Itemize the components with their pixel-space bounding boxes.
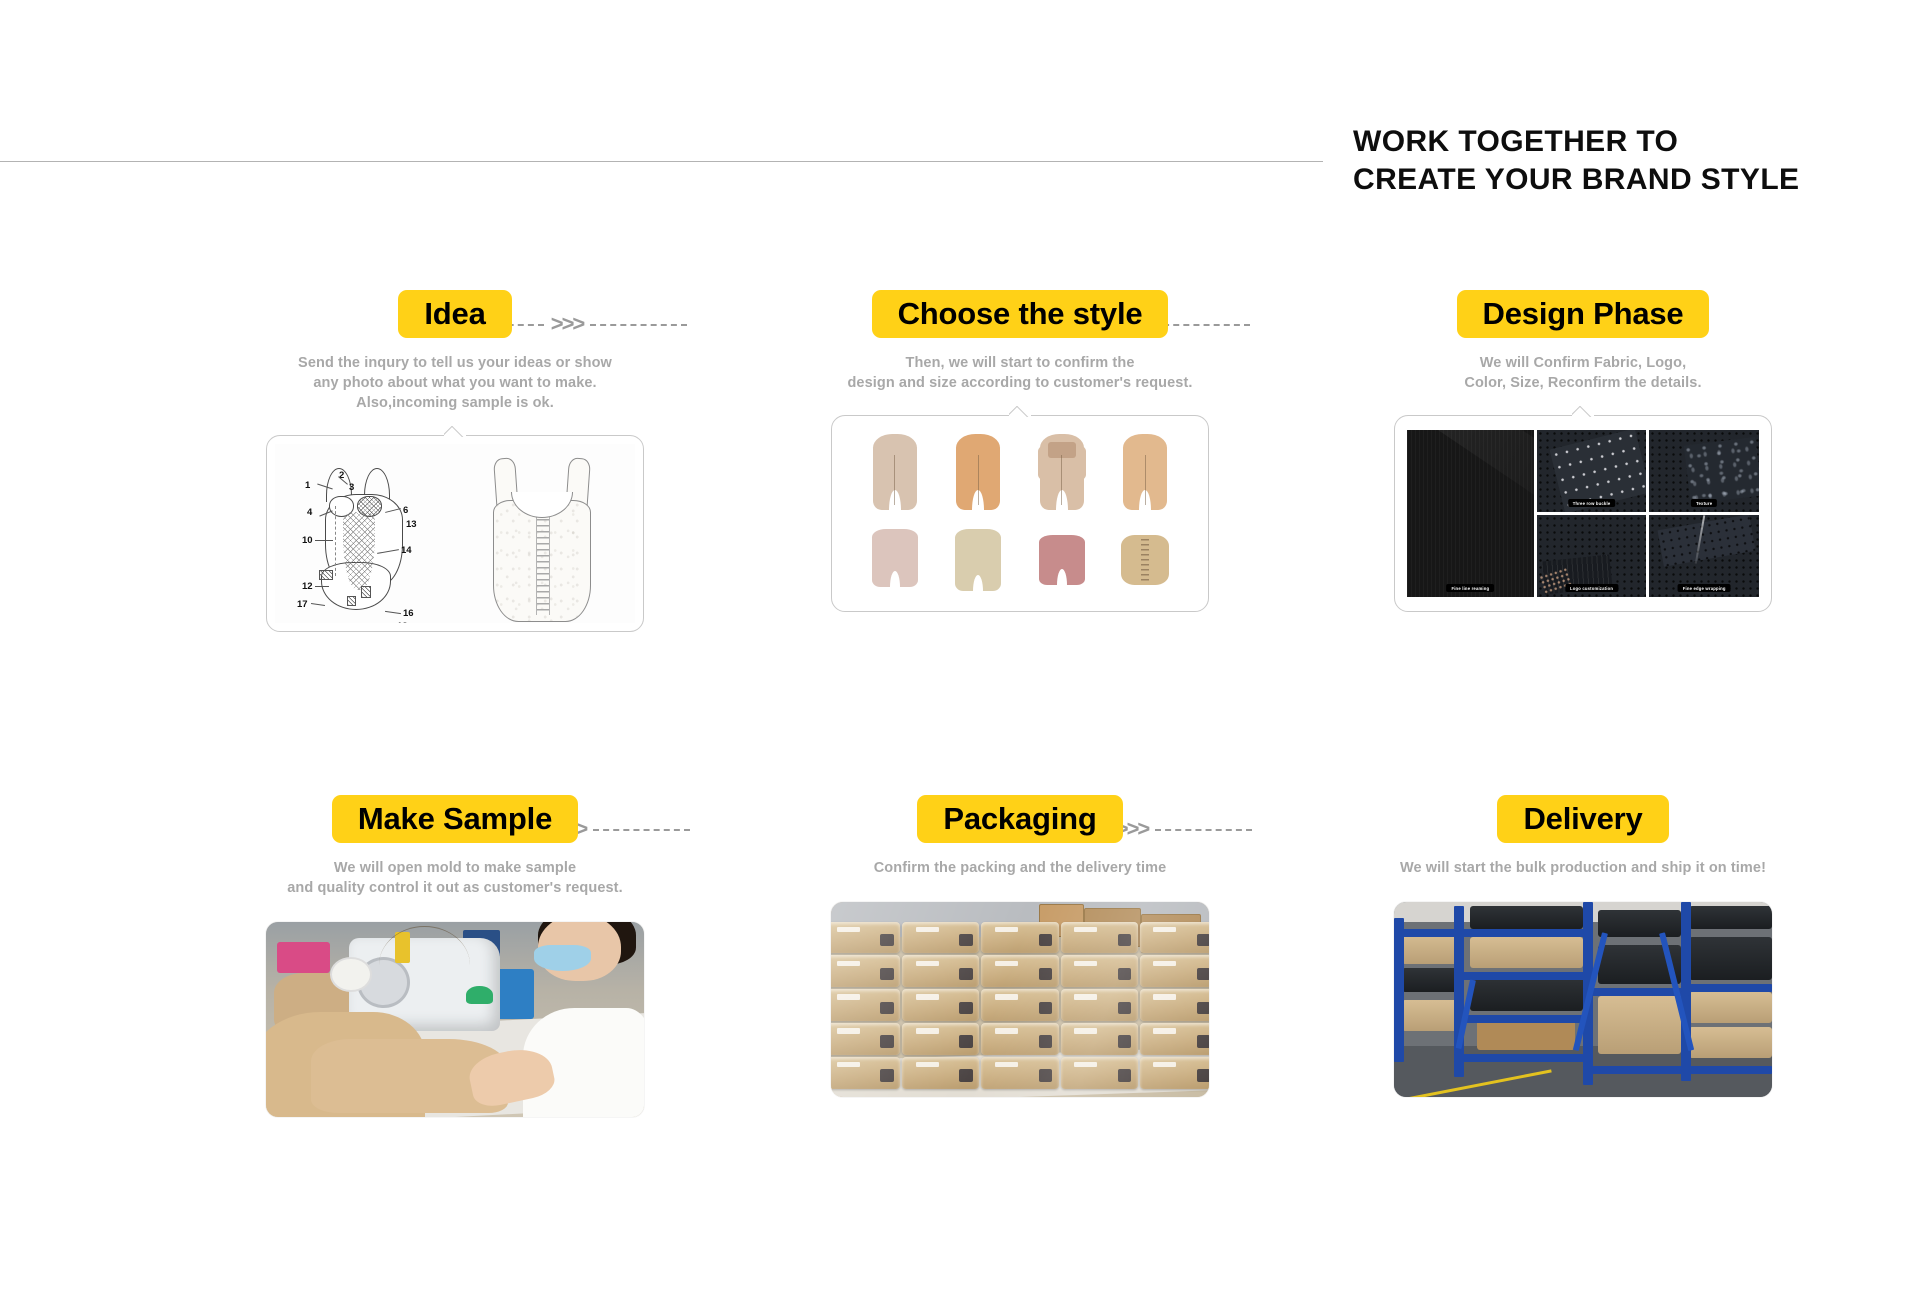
step-badge-delivery[interactable]: Delivery — [1497, 795, 1668, 843]
step-badge-idea[interactable]: Idea — [398, 290, 511, 338]
stored-goods — [1470, 906, 1583, 929]
step-caption-choose-the-style: Then, we will start to confirm the desig… — [740, 353, 1300, 393]
sketch-figure-lace-corset — [477, 458, 607, 623]
collage-column-left: Fine line reaming — [1407, 430, 1534, 597]
technical-sketch-illustration: 1 2 3 4 6 13 10 14 12 17 16 18 11 — [275, 444, 635, 623]
stored-goods — [1402, 933, 1462, 964]
step-caption-delivery: We will start the bulk production and sh… — [1303, 858, 1863, 878]
step-badge-packaging[interactable]: Packaging — [917, 795, 1122, 843]
product-item[interactable]: .p1s:before,.p1s:after{background:#cdb8a… — [854, 428, 936, 513]
card-content-fabric: Fine line reaming Three row buckle Tex — [1403, 424, 1763, 603]
stored-goods — [1689, 937, 1772, 980]
rack-beam — [1394, 929, 1591, 937]
product-item[interactable] — [938, 515, 1020, 600]
sketch-callout-13: 13 — [406, 519, 417, 530]
card-pointer-notch — [1572, 406, 1594, 417]
product-body-open-bust-bodysuit — [1123, 434, 1167, 510]
sketch-callout-3: 3 — [349, 482, 354, 493]
sketch-callout-18: 18 — [397, 621, 408, 623]
step-caption-packaging: Confirm the packing and the delivery tim… — [740, 858, 1300, 878]
media-photo-warehouse — [1394, 902, 1772, 1097]
connector-chevrons: >>> — [544, 313, 591, 335]
process-flow-grid: Idea Send the inqury to tell us your ide… — [0, 0, 1920, 1310]
card-content-products: .p1s:before,.p1s:after{background:#cdb8a… — [840, 424, 1200, 603]
collage-column-right: Three row buckle Texture Logo customizat… — [1537, 430, 1759, 597]
connector-dash-right — [590, 324, 687, 326]
sketch-hatch-a — [319, 570, 333, 580]
fabric-swatch-label: Fine edge wrapping — [1678, 584, 1731, 592]
fabric-damask-pattern — [1683, 437, 1759, 504]
stored-goods — [1470, 976, 1583, 1011]
media-card-product-grid: .p1s:before,.p1s:after{background:#cdb8a… — [831, 415, 1209, 612]
card-content-sketch: 1 2 3 4 6 13 10 14 12 17 16 18 11 — [275, 444, 635, 623]
thread-line — [379, 926, 470, 1004]
fabric-detail-collage: Fine line reaming Three row buckle Tex — [1403, 424, 1763, 603]
step-badge-choose-the-style[interactable]: Choose the style — [872, 290, 1169, 338]
stored-carton — [1477, 1019, 1575, 1050]
step-caption-design-phase: We will Confirm Fabric, Logo, Color, Siz… — [1303, 353, 1863, 393]
fabric-swatch-fine-line-reaming[interactable]: Fine line reaming — [1407, 430, 1534, 597]
step-badge-make-sample[interactable]: Make Sample — [332, 795, 578, 843]
work-lamp — [330, 957, 372, 992]
fabric-swatch-three-row-buckle[interactable]: Three row buckle — [1537, 430, 1647, 512]
sketch-hatch-c — [347, 596, 356, 606]
plastic-sheen-overlay — [831, 902, 1209, 1097]
sketch-callout-12: 12 — [302, 581, 313, 592]
stored-goods — [1470, 937, 1583, 968]
step-design-phase: Design Phase We will Confirm Fabric, Log… — [1303, 285, 1863, 612]
rack-beam — [1454, 1054, 1590, 1062]
product-body-waist-trainer-corset — [1121, 535, 1169, 585]
media-card-technical-sketch: 1 2 3 4 6 13 10 14 12 17 16 18 11 — [266, 435, 644, 632]
product-body-strap-bodysuit-shorts — [873, 434, 917, 510]
rack-beam — [1454, 1015, 1590, 1023]
sketch-leader-10 — [315, 540, 333, 541]
sketch-callout-10: 10 — [302, 535, 313, 546]
rack-post — [1394, 918, 1404, 1062]
product-bust-band — [1048, 442, 1076, 458]
fabric-swatch-texture[interactable]: Texture — [1649, 430, 1759, 512]
fabric-swatch-label: Texture — [1691, 499, 1717, 507]
sketch-callout-16: 16 — [403, 608, 414, 619]
step-idea: Idea Send the inqury to tell us your ide… — [175, 285, 735, 632]
fabric-swatch-logo-customization[interactable]: Logo customization — [1537, 515, 1647, 597]
media-photo-packaging — [831, 902, 1209, 1097]
step-caption-idea: Send the inqury to tell us your ideas or… — [175, 353, 735, 413]
stored-goods — [1689, 992, 1772, 1023]
rack-beam — [1454, 972, 1590, 980]
sewing-scene — [266, 922, 644, 1117]
connector-dash-right — [593, 829, 690, 831]
product-sleeve-right — [1075, 446, 1086, 480]
product-body-zip-front-bodysuit — [956, 434, 1000, 510]
media-photo-sewing — [266, 922, 644, 1117]
stored-goods — [1402, 968, 1462, 991]
packaging-scene — [831, 902, 1209, 1097]
product-item[interactable] — [1105, 428, 1187, 513]
product-body-high-waist-shaper-shorts — [872, 529, 918, 587]
face-mask — [534, 945, 591, 970]
fabric-swatch-label: Fine line reaming — [1446, 584, 1494, 592]
connector-dash-right — [1155, 829, 1252, 831]
product-style-grid: .p1s:before,.p1s:after{background:#cdb8a… — [840, 424, 1200, 603]
sketch-callout-17: 17 — [297, 599, 308, 610]
stored-goods — [1598, 996, 1681, 1055]
stored-goods — [1689, 1027, 1772, 1058]
step-badge-design-phase[interactable]: Design Phase — [1457, 290, 1710, 338]
product-body-pink-shaper-shorts — [1039, 535, 1085, 585]
sketch-callout-6: 6 — [403, 505, 408, 516]
sketch-hatch-b — [361, 586, 371, 598]
badge-row-design-phase: Design Phase — [1303, 285, 1863, 343]
sketch-callout-14: 14 — [401, 545, 412, 556]
pink-bin — [277, 942, 330, 973]
step-delivery: Delivery We will start the bulk producti… — [1303, 790, 1863, 1097]
sketch-callout-4: 4 — [307, 507, 312, 518]
product-item[interactable] — [854, 515, 936, 600]
card-pointer-notch — [444, 426, 466, 437]
lace-torso-body — [493, 500, 591, 622]
warehouse-scene — [1394, 902, 1772, 1097]
fabric-texture-plain — [1407, 430, 1534, 597]
product-item[interactable] — [1105, 515, 1187, 600]
card-pointer-notch — [1009, 406, 1031, 417]
badge-row-delivery: Delivery — [1303, 790, 1863, 848]
sketch-callout-1: 1 — [305, 480, 310, 491]
sketch-leader-12 — [315, 586, 329, 587]
fabric-swatch-label: Three row buckle — [1568, 499, 1616, 507]
stored-goods — [1598, 910, 1681, 937]
stored-goods — [1402, 1000, 1462, 1031]
product-item[interactable] — [1021, 515, 1103, 600]
green-scissors — [466, 986, 492, 1004]
product-body-strap-bodysuit-beige — [955, 529, 1001, 591]
rack-beam — [1681, 984, 1772, 992]
media-card-fabric-collage: Fine line reaming Three row buckle Tex — [1394, 415, 1772, 612]
product-body-short-sleeve-bodysuit — [1040, 434, 1084, 510]
product-item[interactable] — [1021, 428, 1103, 513]
fabric-swatch-label: Logo customization — [1565, 584, 1618, 592]
stored-goods — [1689, 906, 1772, 929]
step-caption-make-sample: We will open mold to make sample and qua… — [175, 858, 735, 898]
product-item[interactable] — [938, 428, 1020, 513]
rack-beam — [1583, 1066, 1772, 1074]
sketch-dash-guide — [335, 506, 336, 576]
fabric-swatch-fine-edge-wrapping[interactable]: Fine edge wrapping — [1649, 515, 1759, 597]
